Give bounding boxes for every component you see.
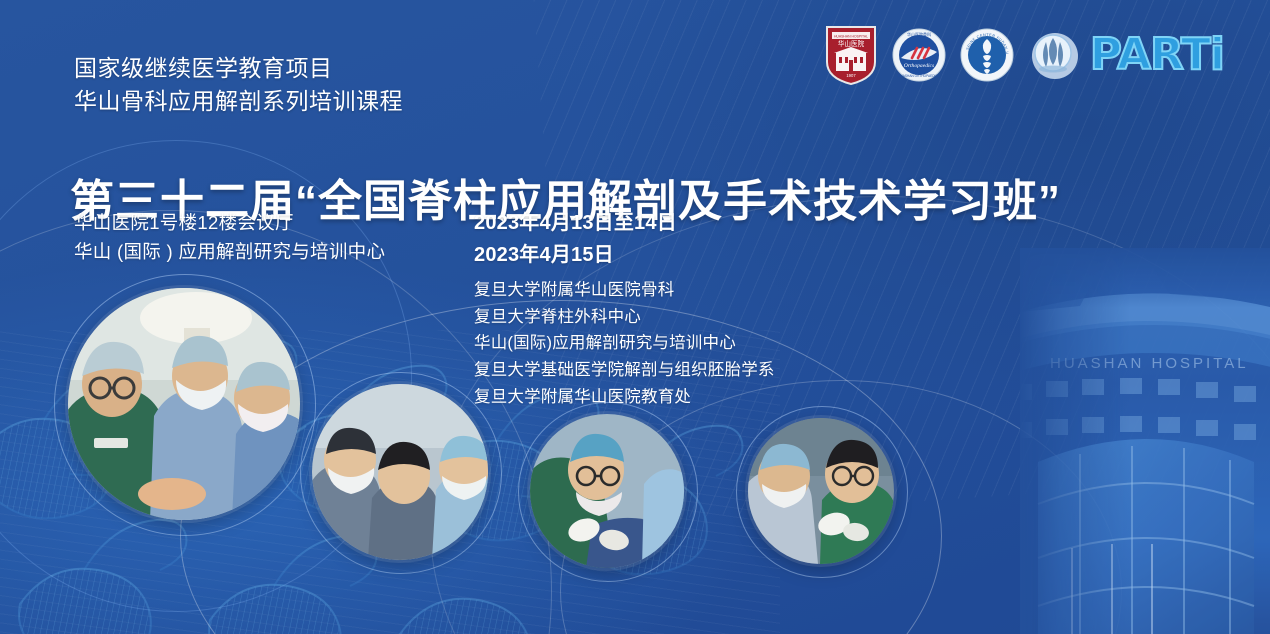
parti-globe-icon bbox=[1028, 28, 1082, 82]
logo-row: HUASHAN HOSPITAL 华山医院 1907 Orthopaedics … bbox=[824, 24, 1224, 86]
svg-text:HUASHAN HOSPITAL: HUASHAN HOSPITAL bbox=[834, 34, 868, 38]
photo-trainees-observing bbox=[312, 384, 488, 560]
svg-text:HUASHAN ORTHOPAEDICS: HUASHAN ORTHOPAEDICS bbox=[898, 74, 940, 78]
venue-block: 华山医院1号楼12楼会议厅 华山 (国际 ) 应用解剖研究与培训中心 bbox=[74, 208, 385, 266]
parti-wordmark: PARTi bbox=[1090, 33, 1224, 77]
svg-text:1907: 1907 bbox=[846, 73, 856, 78]
svg-text:华山医院骨科: 华山医院骨科 bbox=[907, 31, 931, 37]
dates-block: 2023年4月13日至14日 2023年4月15日 bbox=[474, 207, 677, 271]
conference-banner: HUASHAN HOSPITAL bbox=[0, 0, 1270, 634]
organizer-line-3: 华山(国际)应用解剖研究与培训中心 bbox=[474, 330, 775, 357]
photo-doctors-discussion bbox=[748, 418, 894, 564]
photo-operating-room-team bbox=[68, 288, 300, 520]
organizer-line-2: 复旦大学脊柱外科中心 bbox=[474, 304, 775, 331]
kicker-line-2: 华山骨科应用解剖系列培训课程 bbox=[74, 85, 403, 118]
venue-line-2: 华山 (国际 ) 应用解剖研究与培训中心 bbox=[74, 237, 385, 266]
date-line-1: 2023年4月13日至14日 bbox=[474, 207, 677, 239]
spine-center-fudan-logo: SPINE CENTER FUDAN UNIVERSITY bbox=[960, 28, 1014, 82]
date-line-2: 2023年4月15日 bbox=[474, 239, 677, 271]
building-sign-text: HUASHAN HOSPITAL bbox=[1050, 355, 1249, 372]
photo-surgeon-operating bbox=[530, 414, 684, 568]
svg-text:华山医院: 华山医院 bbox=[838, 39, 865, 48]
svg-text:Orthopaedics: Orthopaedics bbox=[904, 63, 934, 69]
huashan-hospital-building-photo: HUASHAN HOSPITAL bbox=[1020, 248, 1270, 634]
kicker-text: 国家级继续医学教育项目 华山骨科应用解剖系列培训课程 bbox=[74, 52, 403, 117]
organizers-block: 复旦大学附属华山医院骨科 复旦大学脊柱外科中心 华山(国际)应用解剖研究与培训中… bbox=[474, 277, 775, 411]
organizer-line-5: 复旦大学附属华山医院教育处 bbox=[474, 384, 775, 411]
organizer-line-4: 复旦大学基础医学院解剖与组织胚胎学系 bbox=[474, 357, 775, 384]
orthopaedics-circle-logo: Orthopaedics 华山医院骨科 HUASHAN ORTHOPAEDICS bbox=[892, 28, 946, 82]
venue-line-1: 华山医院1号楼12楼会议厅 bbox=[74, 208, 385, 237]
kicker-line-1: 国家级继续医学教育项目 bbox=[74, 52, 403, 85]
huashan-hospital-shield-logo: HUASHAN HOSPITAL 华山医院 1907 bbox=[824, 24, 878, 86]
parti-globe-logo: PARTi bbox=[1028, 28, 1224, 82]
organizer-line-1: 复旦大学附属华山医院骨科 bbox=[474, 277, 775, 304]
